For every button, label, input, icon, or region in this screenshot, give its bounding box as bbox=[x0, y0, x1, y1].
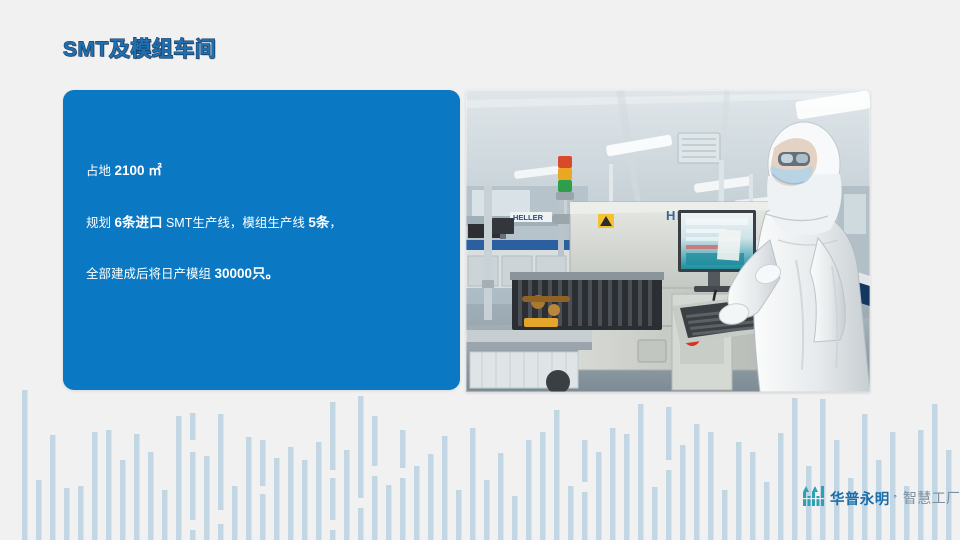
decorative-bar bbox=[428, 454, 434, 540]
decorative-bar bbox=[330, 402, 336, 470]
info-line-output-prefix: 全部建成后将日产模组 bbox=[86, 267, 214, 281]
svg-text:HELLER: HELLER bbox=[513, 213, 544, 222]
logo-company-name: 华普永明 bbox=[830, 488, 890, 509]
decorative-bar bbox=[512, 496, 518, 540]
decorative-bar bbox=[442, 436, 448, 540]
decorative-bar bbox=[694, 424, 700, 540]
decorative-bar bbox=[316, 442, 322, 540]
decorative-bar bbox=[554, 410, 560, 540]
decorative-bar bbox=[190, 530, 196, 540]
info-line-area-prefix: 占地 bbox=[86, 164, 114, 178]
decorative-bar bbox=[162, 490, 168, 540]
decorative-bar bbox=[330, 530, 336, 540]
decorative-bar bbox=[862, 414, 868, 540]
info-line-output-value: 30000只。 bbox=[214, 266, 279, 281]
decorative-bar bbox=[190, 413, 196, 440]
decorative-bar bbox=[218, 414, 224, 510]
decorative-bar bbox=[680, 445, 686, 540]
factory-photo: HELLER HELLER bbox=[466, 90, 870, 392]
decorative-bar bbox=[274, 458, 280, 540]
decorative-bar bbox=[736, 442, 742, 540]
decorative-bar bbox=[610, 428, 616, 540]
decorative-bar bbox=[932, 404, 938, 540]
decorative-bar bbox=[792, 398, 798, 540]
info-line-area-value: 2100 ㎡ bbox=[114, 163, 161, 178]
info-panel: 占地 2100 ㎡ 规划 6条进口 SMT生产线，模组生产线 5条， 全部建成后… bbox=[63, 90, 460, 390]
bar-group bbox=[22, 390, 952, 540]
decorative-bar bbox=[582, 492, 588, 540]
info-line-area: 占地 2100 ㎡ bbox=[86, 164, 446, 178]
decorative-bar bbox=[470, 428, 476, 540]
decorative-bar bbox=[246, 437, 252, 540]
decorative-bar bbox=[414, 466, 420, 540]
decorative-bar bbox=[386, 485, 392, 540]
decorative-bar bbox=[232, 486, 238, 540]
info-line-lines-mid: SMT生产线，模组生产线 bbox=[163, 216, 309, 230]
decorative-bar bbox=[106, 430, 112, 540]
decorative-bar bbox=[344, 450, 350, 540]
decorative-bar bbox=[624, 434, 630, 540]
info-line-lines: 规划 6条进口 SMT生产线，模组生产线 5条， bbox=[86, 216, 446, 230]
decorative-bar bbox=[134, 434, 140, 540]
decorative-bar bbox=[568, 486, 574, 540]
decorative-bar bbox=[50, 435, 56, 540]
info-text-block: 占地 2100 ㎡ 规划 6条进口 SMT生产线，模组生产线 5条， 全部建成后… bbox=[86, 164, 446, 281]
decorative-bar bbox=[260, 440, 266, 486]
decorative-bar bbox=[638, 404, 644, 540]
decorative-bar bbox=[526, 440, 532, 540]
decorative-bar bbox=[218, 524, 224, 540]
decorative-bar bbox=[78, 486, 84, 540]
cleanroom-photo-illustration: HELLER HELLER bbox=[466, 90, 870, 392]
info-line-lines-value1: 6条进口 bbox=[114, 215, 162, 230]
decorative-bar bbox=[750, 452, 756, 540]
decorative-bar bbox=[358, 508, 364, 540]
decorative-bar bbox=[372, 476, 378, 540]
decorative-bar bbox=[372, 416, 378, 466]
decorative-bar bbox=[36, 480, 42, 540]
decorative-bar bbox=[288, 447, 294, 540]
decorative-bar bbox=[64, 488, 70, 540]
logo-mark-icon bbox=[803, 486, 825, 511]
decorative-bar bbox=[176, 416, 182, 540]
decorative-bar bbox=[820, 399, 826, 540]
decorative-bar bbox=[358, 396, 364, 498]
decorative-bar bbox=[540, 432, 546, 540]
decorative-bar bbox=[484, 480, 490, 540]
decorative-bar bbox=[708, 432, 714, 540]
info-line-output: 全部建成后将日产模组 30000只。 bbox=[86, 267, 446, 281]
decorative-bar bbox=[92, 432, 98, 540]
equalizer-bars-decoration bbox=[0, 390, 960, 540]
decorative-bar bbox=[400, 478, 406, 540]
logo-superscript: ° bbox=[894, 494, 897, 503]
decorative-bar bbox=[722, 490, 728, 540]
info-line-lines-suffix: ， bbox=[329, 216, 342, 230]
decorative-bar bbox=[596, 452, 602, 540]
decorative-bar bbox=[666, 407, 672, 460]
decorative-bar bbox=[400, 430, 406, 468]
decorative-bar bbox=[918, 430, 924, 540]
logo-product-name: 智慧工厂 bbox=[903, 488, 960, 508]
decorative-bar bbox=[456, 490, 462, 540]
decorative-bar bbox=[330, 478, 336, 520]
decorative-bar bbox=[260, 494, 266, 540]
decorative-bar bbox=[778, 433, 784, 540]
decorative-bar bbox=[652, 487, 658, 540]
decorative-bar bbox=[764, 482, 770, 540]
info-line-lines-value2: 5条 bbox=[308, 215, 329, 230]
decorative-bar bbox=[498, 453, 504, 540]
info-line-lines-prefix: 规划 bbox=[86, 216, 114, 230]
decorative-bar bbox=[302, 460, 308, 540]
decorative-bar bbox=[22, 390, 28, 540]
decorative-bar bbox=[120, 460, 126, 540]
decorative-bar bbox=[204, 456, 210, 540]
decorative-bar bbox=[582, 440, 588, 482]
decorative-bar bbox=[666, 470, 672, 540]
decorative-bar bbox=[190, 452, 196, 520]
footer-logo: 华普永明°智慧工厂 bbox=[803, 486, 960, 510]
decorative-bar bbox=[148, 452, 154, 540]
page-title: SMT及模组车间 bbox=[63, 33, 216, 63]
